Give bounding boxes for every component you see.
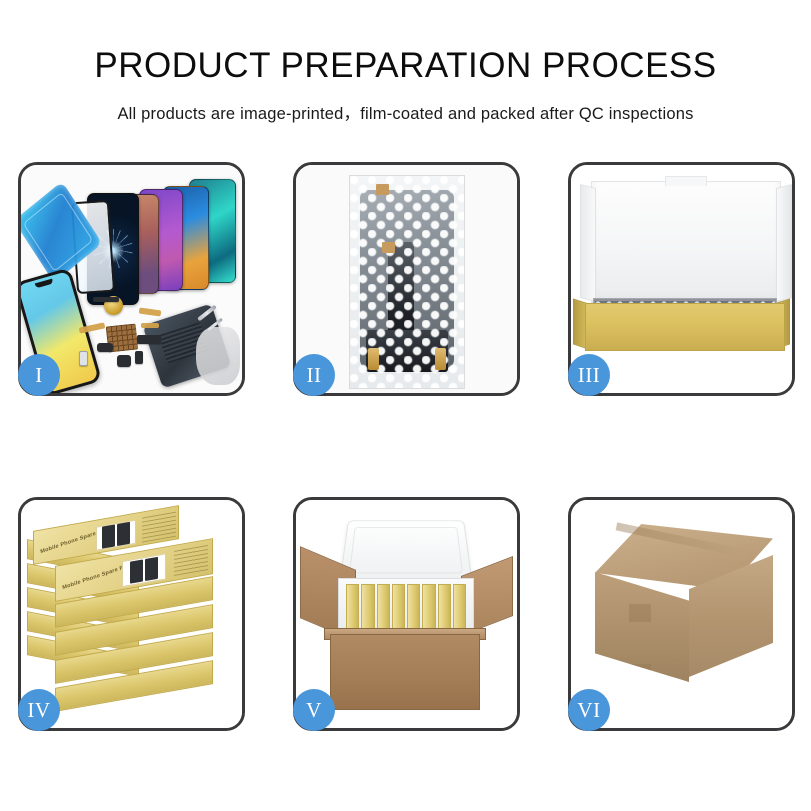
lid-notch (665, 176, 707, 186)
step-badge-1: I (18, 354, 60, 396)
step-image-2 (296, 165, 517, 393)
page-subtitle: All products are image-printed，film-coat… (0, 100, 811, 124)
packed-box (361, 584, 374, 632)
label-phone-thumb (130, 559, 143, 583)
small-part-button (135, 351, 143, 364)
box-label-speclines (142, 511, 176, 543)
step-image-1 (21, 165, 242, 393)
step-image-4: Mobile Phone Spare Parts Mobile Phone Sp… (21, 500, 242, 728)
carton-tape-patch (629, 664, 651, 682)
box-label-image (96, 520, 136, 551)
step-panel-1[interactable]: I (18, 162, 245, 396)
packed-box (453, 584, 466, 632)
step-panel-4[interactable]: Mobile Phone Spare Parts Mobile Phone Sp… (18, 497, 245, 731)
step-badge-2: II (293, 354, 335, 396)
process-steps-grid: I II (18, 162, 795, 731)
step-badge-6: VI (568, 689, 610, 731)
step-badge-3: III (568, 354, 610, 396)
packed-box (407, 584, 420, 632)
step-image-5 (296, 500, 517, 728)
carton-tape-patch (629, 604, 651, 622)
page-title: PRODUCT PREPARATION PROCESS (0, 46, 811, 86)
small-part-strip (93, 297, 119, 302)
label-phone-thumb (102, 524, 115, 548)
bubble-wrap-bag (349, 175, 465, 389)
small-part-camera (97, 343, 113, 352)
packed-box (377, 584, 390, 632)
label-phone-thumb (145, 557, 158, 581)
carton-front-face (330, 634, 480, 710)
small-part-sim-tray (79, 351, 88, 366)
box-label-image (122, 553, 166, 587)
step-panel-3[interactable]: III (568, 162, 795, 396)
box-white-lid (591, 181, 781, 305)
step-panel-6[interactable]: VI (568, 497, 795, 731)
box-yellow-base (585, 303, 785, 351)
packed-box (392, 584, 405, 632)
box-label-speclines (174, 544, 208, 576)
step-panel-5[interactable]: V (293, 497, 520, 731)
box-stack: Mobile Phone Spare Parts Mobile Phone Sp… (27, 514, 242, 714)
tape-tab-mid (382, 242, 395, 253)
foam-lid (339, 520, 472, 581)
step-badge-4: IV (18, 689, 60, 731)
step-image-6 (571, 500, 792, 728)
gold-clip-left (368, 348, 379, 370)
tape-tab-top (376, 184, 389, 195)
step-image-3 (571, 165, 792, 393)
packed-box (422, 584, 435, 632)
small-part-speaker (117, 355, 131, 367)
carton-left-face (595, 572, 689, 682)
step-panel-2[interactable]: II (293, 162, 520, 396)
hand-holding-part (196, 327, 240, 385)
packed-boxes-row (346, 584, 466, 632)
gold-clip-right (435, 348, 446, 370)
packed-box (438, 584, 451, 632)
flex-cable-right (139, 307, 162, 316)
label-phone-thumb (117, 522, 130, 546)
flex-cable-mid (141, 323, 159, 328)
packed-box (346, 584, 359, 632)
step-badge-5: V (293, 689, 335, 731)
small-part-connector (137, 335, 161, 344)
page-header: PRODUCT PREPARATION PROCESS All products… (0, 0, 811, 124)
